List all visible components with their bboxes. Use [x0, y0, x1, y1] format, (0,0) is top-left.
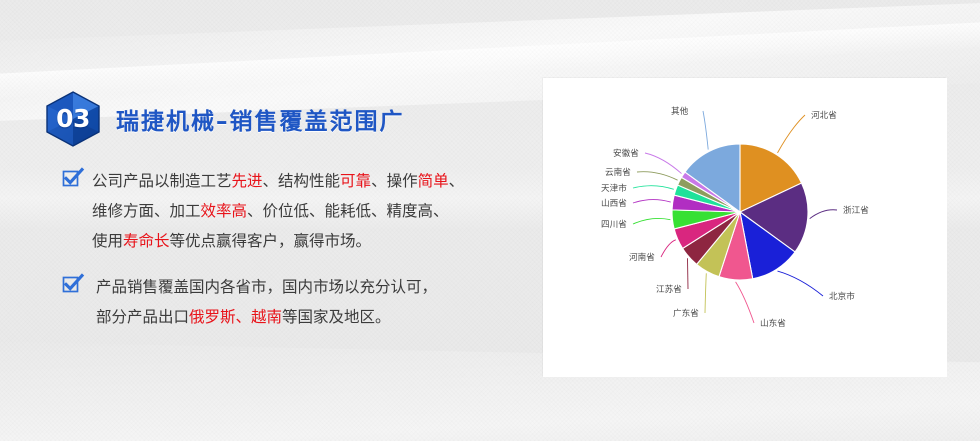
pie-label-安徽省: 安徽省 [613, 147, 639, 159]
pie-leader-line-其他 [703, 111, 708, 150]
pie-leader-line-河南省 [661, 240, 676, 257]
page-title: 瑞捷机械–销售覆盖范围广 [116, 102, 405, 136]
pie-leader-line-山西省 [633, 200, 671, 203]
pie-label-河北省: 河北省 [811, 109, 837, 121]
body-text: 等国家及地区。 [282, 308, 391, 326]
checkbox-checked-icon [62, 275, 82, 295]
sales-coverage-chart-card: 河北省浙江省北京市山东省广东省江苏省河南省四川省山西省天津市云南省安徽省其他 [543, 78, 947, 377]
highlighted-text: 先进 [232, 172, 263, 190]
pie-leader-line-天津市 [633, 186, 674, 190]
pie-leader-line-广东省 [705, 273, 706, 313]
body-text: 维修方面、加工 [92, 202, 201, 220]
section-heading: 03 瑞捷机械–销售覆盖范围广 [44, 92, 405, 146]
body-text: 、价位低、能耗低、精度高、 [247, 202, 449, 220]
pie-label-四川省: 四川省 [601, 218, 627, 230]
list-item: 产品销售覆盖国内各省市，国内市场以充分认可，部分产品出口俄罗斯、越南等国家及地区… [62, 272, 532, 332]
pie-leader-line-江苏省 [688, 258, 689, 289]
pie-label-北京市: 北京市 [829, 290, 855, 302]
body-text: 、操作 [371, 172, 418, 190]
pie-label-云南省: 云南省 [605, 166, 631, 178]
highlighted-text: 可靠 [340, 172, 371, 190]
body-text: 公司产品以制造工艺 [92, 172, 232, 190]
pie-chart[interactable]: 河北省浙江省北京市山东省广东省江苏省河南省四川省山西省天津市云南省安徽省其他 [543, 78, 947, 377]
highlighted-text: 寿命长 [123, 232, 170, 250]
body-text: 、 [449, 172, 465, 190]
body-text: 产品销售覆盖国内各省市，国内市场以充分认可， [96, 278, 437, 296]
pie-label-河南省: 河南省 [629, 251, 655, 263]
pie-label-广东省: 广东省 [673, 307, 699, 319]
pie-label-其他: 其他 [671, 105, 689, 117]
pie-leader-line-河北省 [778, 115, 806, 153]
body-text: 等优点赢得客户，赢得市场。 [170, 232, 372, 250]
section-number-badge: 03 [44, 91, 102, 147]
body-text: 部分产品出口 [96, 308, 189, 326]
list-item-text: 公司产品以制造工艺先进、结构性能可靠、操作简单、维修方面、加工效率高、价位低、能… [92, 166, 464, 256]
highlighted-text: 简单 [418, 172, 449, 190]
pie-label-山东省: 山东省 [760, 317, 786, 329]
highlighted-text: 俄罗斯、越南 [189, 308, 282, 326]
body-text: 、结构性能 [263, 172, 341, 190]
pie-label-天津市: 天津市 [601, 182, 627, 194]
highlighted-text: 效率高 [201, 202, 248, 220]
section-number-text: 03 [44, 91, 102, 147]
pie-leader-line-北京市 [778, 271, 824, 296]
pie-leader-line-浙江省 [810, 210, 837, 219]
pie-label-浙江省: 浙江省 [843, 204, 869, 216]
list-item: 公司产品以制造工艺先进、结构性能可靠、操作简单、维修方面、加工效率高、价位低、能… [62, 166, 532, 256]
checkbox-checked-icon [62, 169, 82, 189]
pie-leader-line-云南省 [637, 172, 678, 181]
pie-label-江苏省: 江苏省 [656, 283, 682, 295]
pie-leader-line-山东省 [736, 282, 754, 323]
body-text: 使用 [92, 232, 123, 250]
pie-leader-line-安徽省 [645, 153, 682, 174]
pie-leader-line-四川省 [633, 218, 670, 224]
pie-label-山西省: 山西省 [601, 197, 627, 209]
pie-chart-svg[interactable]: 河北省浙江省北京市山东省广东省江苏省河南省四川省山西省天津市云南省安徽省其他 [543, 78, 947, 377]
feature-bullet-list: 公司产品以制造工艺先进、结构性能可靠、操作简单、维修方面、加工效率高、价位低、能… [62, 166, 532, 348]
list-item-text: 产品销售覆盖国内各省市，国内市场以充分认可，部分产品出口俄罗斯、越南等国家及地区… [96, 272, 437, 332]
slide-canvas: 03 瑞捷机械–销售覆盖范围广 公司产品以制造工艺先进、结构性能可靠、操作简单、… [0, 0, 980, 441]
